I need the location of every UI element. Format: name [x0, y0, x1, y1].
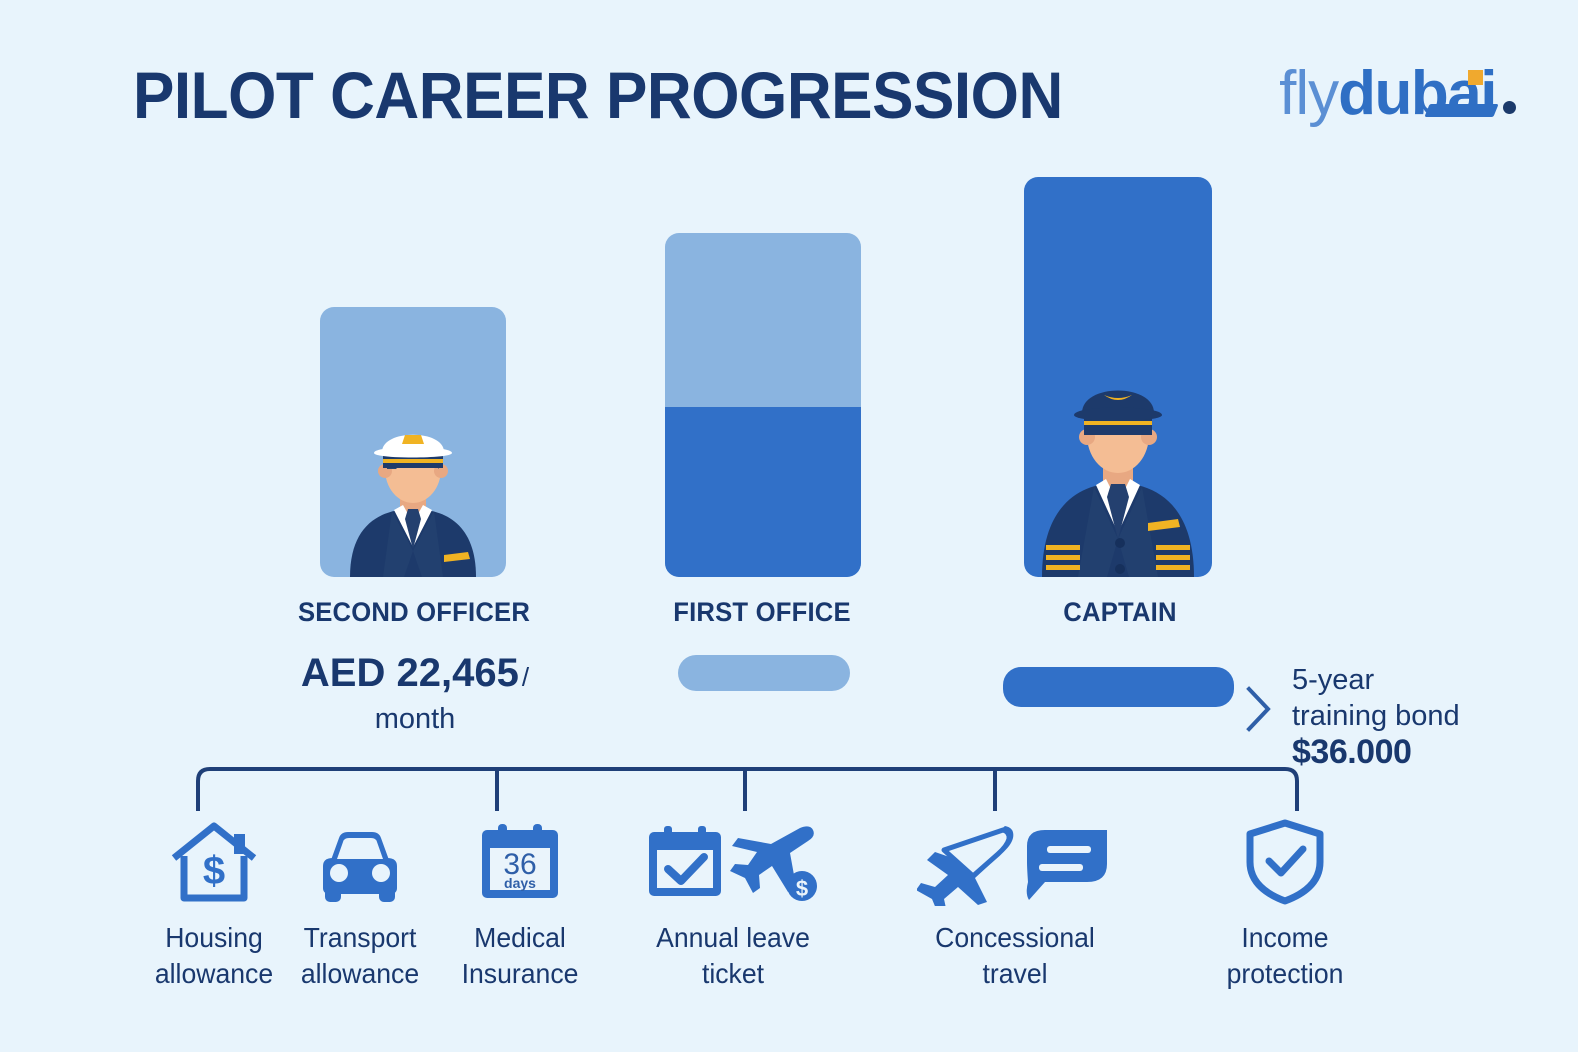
- benefit-label-line1: Transport: [285, 920, 435, 956]
- logo-end-dot-icon: [1503, 101, 1516, 114]
- benefit-label-line1: Medical: [444, 920, 596, 956]
- benefit-icon-box: 36 days: [440, 818, 600, 906]
- training-bond-line2: training bond: [1292, 698, 1460, 734]
- page-title: PILOT CAREER PROGRESSION: [133, 56, 1063, 134]
- chevron-right-icon: [1246, 686, 1272, 732]
- role-label-second-officer: SECOND OFFICER: [275, 597, 552, 628]
- benefit-housing-allowance: $ Housing allowance: [135, 818, 293, 992]
- benefit-label-line1: Income: [1195, 920, 1376, 956]
- benefit-transport-allowance: Transport allowance: [281, 818, 439, 992]
- training-bond-amount: $36.000: [1292, 734, 1460, 770]
- logo-dubai-wrap: dubai: [1338, 63, 1496, 125]
- airplane-takeoff-icon: [917, 822, 1017, 906]
- bar-captain: [1024, 177, 1212, 577]
- benefit-label: Transport allowance: [285, 920, 435, 992]
- benefit-icon-box: $: [135, 818, 293, 906]
- benefit-icon-box: [905, 818, 1125, 906]
- infographic-canvas: PILOT CAREER PROGRESSION fly dubai: [0, 0, 1578, 1052]
- placeholder-pill-first-officer: [678, 655, 850, 691]
- benefit-annual-leave-ticket: $ Annual leave ticket: [630, 818, 836, 992]
- bar-first-officer: [665, 233, 861, 577]
- benefit-concessional-travel: Concessional travel: [905, 818, 1125, 992]
- benefit-label-line2: protection: [1195, 956, 1376, 992]
- benefit-label-line2: travel: [911, 956, 1120, 992]
- flydubai-logo: fly dubai: [1279, 58, 1516, 130]
- bar-second-officer: [320, 307, 506, 577]
- svg-text:$: $: [796, 876, 808, 901]
- salary-amount-row: AED 22,465/: [240, 650, 590, 700]
- benefit-label: Income protection: [1195, 920, 1376, 992]
- benefit-income-protection: Income protection: [1190, 818, 1380, 992]
- benefit-label-line1: Housing: [139, 920, 289, 956]
- benefit-label-line2: allowance: [285, 956, 435, 992]
- role-label-first-officer: FIRST OFFICE: [654, 597, 871, 628]
- salary-slash: /: [522, 662, 529, 692]
- benefit-label-line2: allowance: [139, 956, 289, 992]
- benefit-icon-box: $: [630, 818, 836, 906]
- benefit-label-line2: ticket: [635, 956, 831, 992]
- benefit-label-line1: Annual leave: [635, 920, 831, 956]
- calendar-badge-unit: days: [504, 875, 536, 891]
- training-bond-line1: 5-year: [1292, 662, 1460, 698]
- benefit-label-line1: Concessional: [911, 920, 1120, 956]
- salary-amount: AED 22,465: [301, 651, 519, 695]
- benefit-label-line2: Insurance: [444, 956, 596, 992]
- calendar-check-icon: [644, 824, 728, 906]
- calendar-36-days-icon: 36 days: [476, 820, 564, 906]
- role-label-captain: CAPTAIN: [1044, 597, 1196, 628]
- shield-check-icon: [1242, 818, 1328, 906]
- benefit-label: Concessional travel: [911, 920, 1120, 992]
- house-dollar-icon: $: [168, 820, 260, 906]
- second-officer-figure-icon: [320, 397, 506, 577]
- benefit-icon-box: [281, 818, 439, 906]
- plane-dollar-coin-icon: $: [730, 822, 822, 906]
- placeholder-pill-captain: [1003, 667, 1234, 707]
- chat-bubble-icon: [1019, 824, 1113, 906]
- benefit-label: Medical Insurance: [444, 920, 596, 992]
- logo-swoosh-shape: [1424, 104, 1499, 117]
- captain-figure-icon: [1024, 347, 1212, 577]
- bar-first-officer-lower-segment: [665, 407, 861, 577]
- benefit-medical-insurance: 36 days Medical Insurance: [440, 818, 600, 992]
- training-bond-note: 5-year training bond $36.000: [1292, 662, 1460, 770]
- car-icon: [311, 826, 409, 906]
- salary-period: month: [240, 700, 590, 738]
- logo-fly-text: fly: [1279, 63, 1338, 125]
- salary-second-officer: AED 22,465/ month: [240, 650, 590, 738]
- benefit-icon-box: [1190, 818, 1380, 906]
- benefit-label: Housing allowance: [139, 920, 289, 992]
- svg-text:$: $: [203, 849, 225, 893]
- benefit-label: Annual leave ticket: [635, 920, 831, 992]
- logo-orange-square-icon: [1468, 70, 1483, 85]
- benefits-bracket: [195, 765, 1300, 813]
